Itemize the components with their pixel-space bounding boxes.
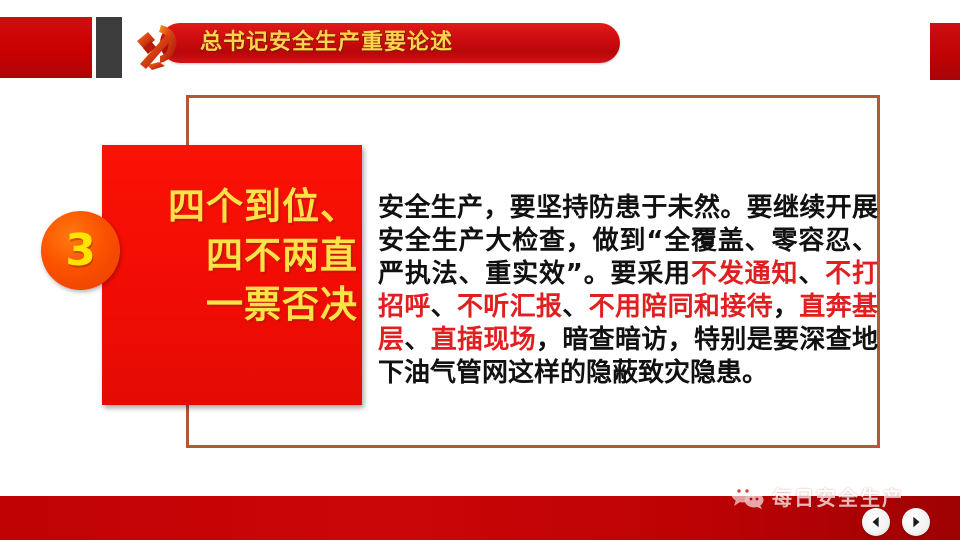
body-highlight-text: 不发通知 — [691, 259, 798, 289]
header-dark-block — [96, 17, 122, 78]
header-title: 总书记安全生产重要论述 — [200, 26, 620, 60]
body-plain-text: 、 — [798, 259, 825, 289]
body-plain-text: 、 — [562, 292, 588, 322]
section-number-label: 3 — [41, 211, 120, 290]
body-plain-text: ， — [773, 292, 799, 322]
slide-canvas: 总书记安全生产重要论述 四个到位、 四不两直 一票否决 3 安全生产，要坚持防患… — [0, 0, 960, 540]
slide-navigation[interactable] — [862, 508, 946, 536]
body-plain-text: 、 — [404, 325, 430, 355]
body-highlight-text: 直插现场 — [431, 325, 536, 355]
header-red-block-right — [930, 23, 960, 80]
body-highlight-text: 不用陪同和接待 — [589, 292, 773, 322]
body-paragraph: 安全生产，要坚持防患于未然。要继续开展安全生产大检查，做到“全覆盖、零容忍、严执… — [378, 192, 878, 390]
title-card-text: 四个到位、 四不两直 一票否决 — [126, 182, 358, 329]
wechat-icon — [730, 482, 764, 510]
prev-slide-button[interactable] — [862, 508, 890, 536]
party-emblem-icon — [131, 20, 185, 74]
body-highlight-text: 不听汇报 — [457, 292, 562, 322]
body-plain-text: 、 — [431, 292, 457, 322]
watermark-text: 每日安全生产 — [772, 482, 904, 511]
header-red-block-left — [0, 17, 92, 78]
next-slide-button[interactable] — [902, 508, 930, 536]
